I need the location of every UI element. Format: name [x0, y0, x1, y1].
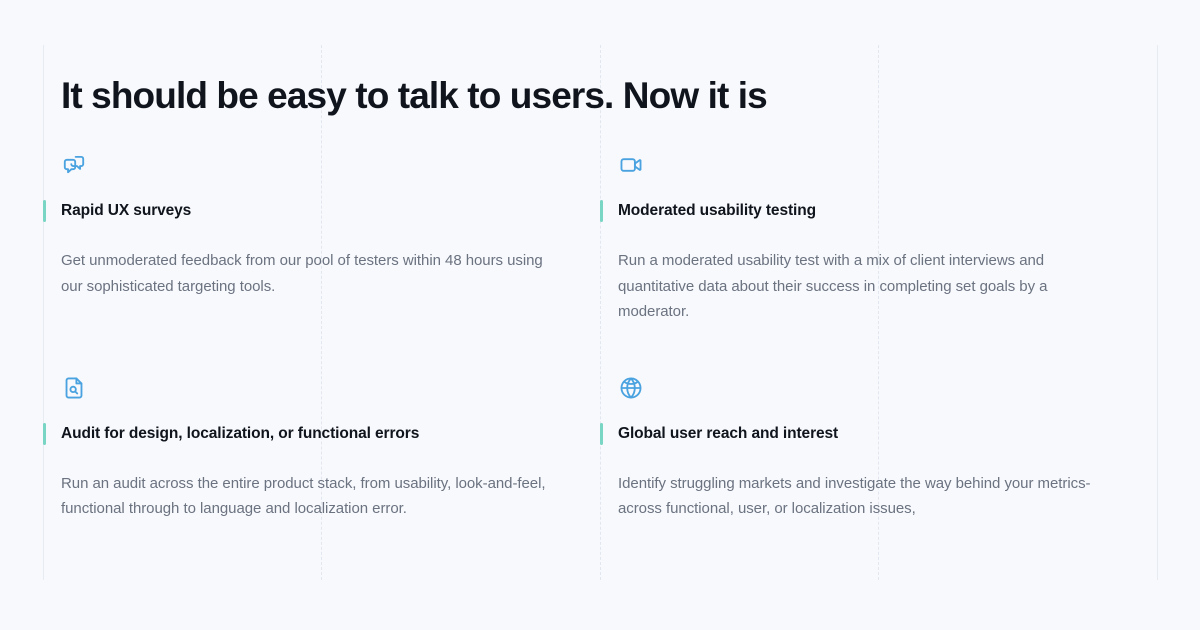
- feature-card-body: Get unmoderated feedback from our pool o…: [61, 248, 560, 299]
- feature-card-body: Run a moderated usability test with a mi…: [618, 248, 1117, 325]
- feature-card-title: Audit for design, localization, or funct…: [61, 423, 419, 445]
- card-title-row: Rapid UX surveys: [43, 200, 560, 222]
- chat-bubbles-icon: [61, 152, 87, 178]
- feature-card-body: Run an audit across the entire product s…: [61, 471, 560, 522]
- card-title-row: Audit for design, localization, or funct…: [43, 423, 560, 445]
- feature-card-title: Rapid UX surveys: [61, 200, 191, 222]
- feature-card-moderated-usability-testing: Moderated usability testing Run a modera…: [600, 152, 1157, 325]
- grid-line-right-border: [1157, 45, 1158, 580]
- feature-section: It should be easy to talk to users. Now …: [0, 0, 1200, 630]
- card-title-row: Global user reach and interest: [600, 423, 1117, 445]
- feature-card-title: Moderated usability testing: [618, 200, 816, 222]
- accent-bar: [600, 200, 603, 222]
- feature-card-rapid-ux-surveys: Rapid UX surveys Get unmoderated feedbac…: [43, 152, 600, 325]
- file-search-icon: [61, 375, 87, 401]
- feature-card-audit-for-errors: Audit for design, localization, or funct…: [43, 325, 600, 522]
- feature-card-grid: Rapid UX surveys Get unmoderated feedbac…: [43, 152, 1157, 522]
- feature-card-title: Global user reach and interest: [618, 423, 838, 445]
- feature-card-body: Identify struggling markets and investig…: [618, 471, 1117, 522]
- accent-bar: [43, 423, 46, 445]
- section-content: It should be easy to talk to users. Now …: [43, 45, 1157, 580]
- accent-bar: [43, 200, 46, 222]
- globe-icon: [618, 375, 644, 401]
- page-title: It should be easy to talk to users. Now …: [43, 45, 1157, 119]
- video-camera-icon: [618, 152, 644, 178]
- card-title-row: Moderated usability testing: [600, 200, 1117, 222]
- feature-card-global-user-reach: Global user reach and interest Identify …: [600, 325, 1157, 522]
- accent-bar: [600, 423, 603, 445]
